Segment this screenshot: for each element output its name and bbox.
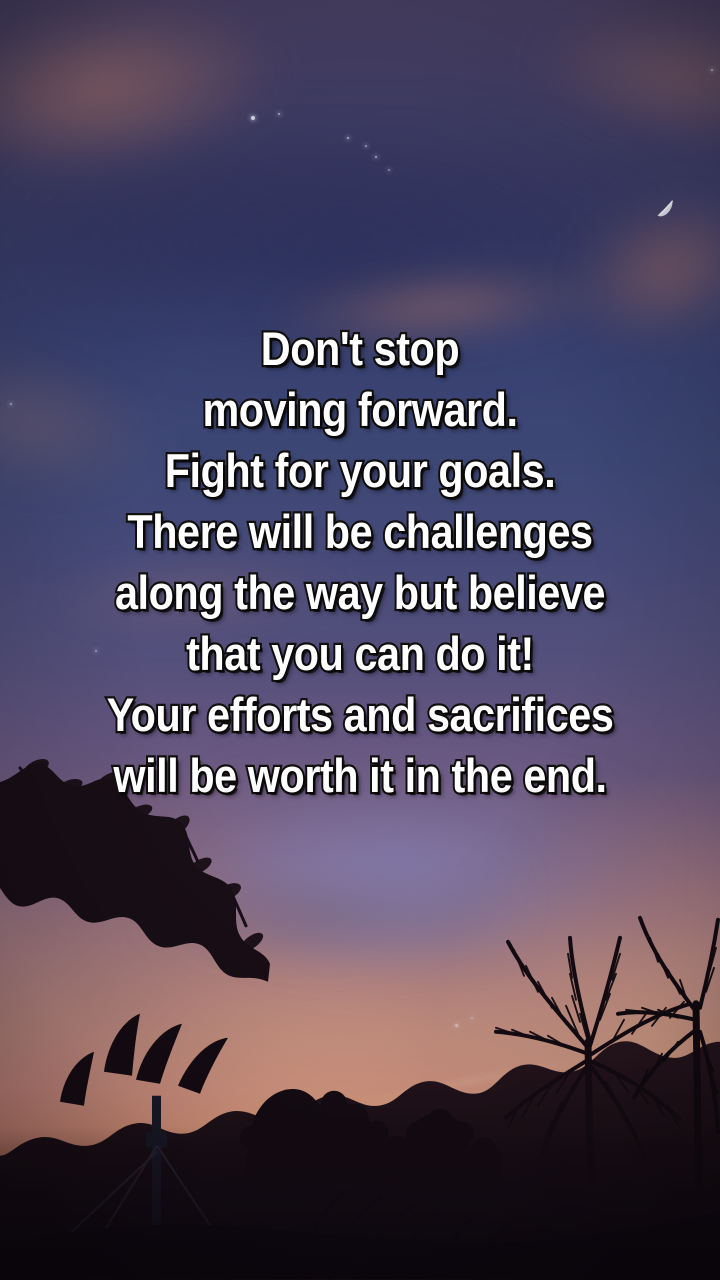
quote-line-4: There will be challenges: [43, 501, 677, 562]
quote-line-5: along the way but believe: [43, 562, 677, 623]
quote-line-7: Your efforts and sacrifices: [43, 684, 677, 745]
star: [251, 116, 255, 120]
star: [455, 1024, 458, 1027]
quote-line-6: that you can do it!: [43, 623, 677, 684]
cloud-grey-wisp: [184, 840, 522, 978]
quote-line-8: will be worth it in the end.: [43, 745, 677, 806]
quote-line-1: Don't stop: [43, 318, 677, 379]
wallpaper-canvas: Don't stop moving forward. Fight for you…: [0, 0, 720, 1280]
crescent-moon-icon: [648, 196, 682, 230]
quote-line-3: Fight for your goals.: [43, 440, 677, 501]
star: [388, 169, 390, 171]
quote-text-block: Don't stop moving forward. Fight for you…: [0, 318, 720, 806]
quote-line-2: moving forward.: [43, 379, 677, 440]
ground-haze: [0, 1126, 720, 1280]
